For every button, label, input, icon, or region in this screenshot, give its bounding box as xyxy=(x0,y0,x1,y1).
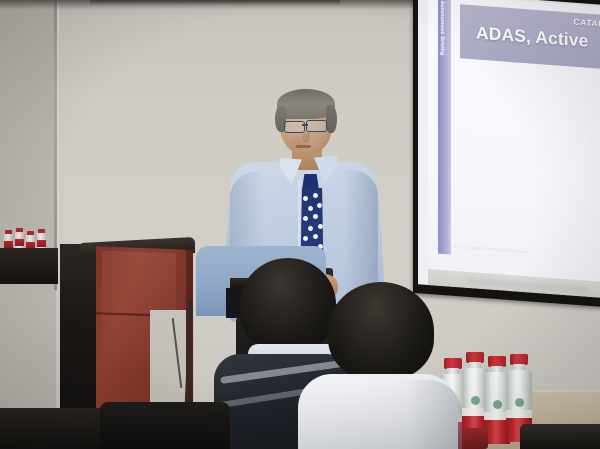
foreground-object-right xyxy=(520,424,600,449)
bottle-label xyxy=(4,241,13,248)
slide-title-band: CATAR ADAS, Active xyxy=(460,4,600,69)
bottle-label-white xyxy=(506,410,532,418)
ceiling-shadow-soft xyxy=(90,0,340,5)
screen-smudge xyxy=(468,279,588,292)
slide-footer-text: © 2011 Delphi Automotive Systems xyxy=(454,244,529,255)
tie-dot xyxy=(303,196,308,201)
tie-dot xyxy=(308,206,313,211)
bottle-label xyxy=(15,239,24,246)
slide-eyebrow-text: CATAR xyxy=(574,17,600,29)
wall-left-panel xyxy=(0,0,56,449)
eyeglasses-bridge xyxy=(302,124,308,126)
slide-title-text: ADAS, Active xyxy=(476,22,588,51)
eyeglasses-lens-right xyxy=(306,120,327,132)
audience-right-hair xyxy=(328,282,434,380)
water-bottle xyxy=(506,354,532,426)
presenter-hair-right xyxy=(326,105,337,133)
bottle-logo xyxy=(493,400,502,409)
bottle-logo xyxy=(471,396,480,405)
photograph-scene: Dr. Lothar Grieshz Autonomous Driving CA… xyxy=(0,0,600,449)
slide-sidebar: Dr. Lothar Grieshz Autonomous Driving xyxy=(438,0,451,255)
tie-dot xyxy=(308,226,313,231)
audience-member-right xyxy=(298,282,458,449)
tie-dot xyxy=(303,236,308,241)
projected-slide: Dr. Lothar Grieshz Autonomous Driving CA… xyxy=(428,0,600,282)
bottle-logo xyxy=(515,398,524,407)
tie-dot xyxy=(318,224,323,229)
tie-knot xyxy=(302,174,319,190)
tie-dot xyxy=(303,216,308,221)
projection-screen-frame: Dr. Lothar Grieshz Autonomous Driving CA… xyxy=(413,0,600,307)
tie-dot xyxy=(317,203,322,208)
presenter-nose xyxy=(302,130,310,143)
foreground-bottom-center xyxy=(100,402,230,449)
left-counter xyxy=(0,248,58,284)
tie-dot xyxy=(313,193,318,198)
door-seam-highlight xyxy=(57,0,59,290)
presenter-mouth xyxy=(296,145,311,148)
tie-dot xyxy=(313,234,318,239)
slide-sidebar-label: Dr. Lothar Grieshz Autonomous Driving xyxy=(439,0,445,56)
counter-bottle xyxy=(15,228,24,250)
tie-dot xyxy=(313,214,318,219)
bottle-body xyxy=(506,370,532,426)
projection-screen-inner: Dr. Lothar Grieshz Autonomous Driving CA… xyxy=(418,0,600,298)
bottle-label xyxy=(37,240,46,247)
